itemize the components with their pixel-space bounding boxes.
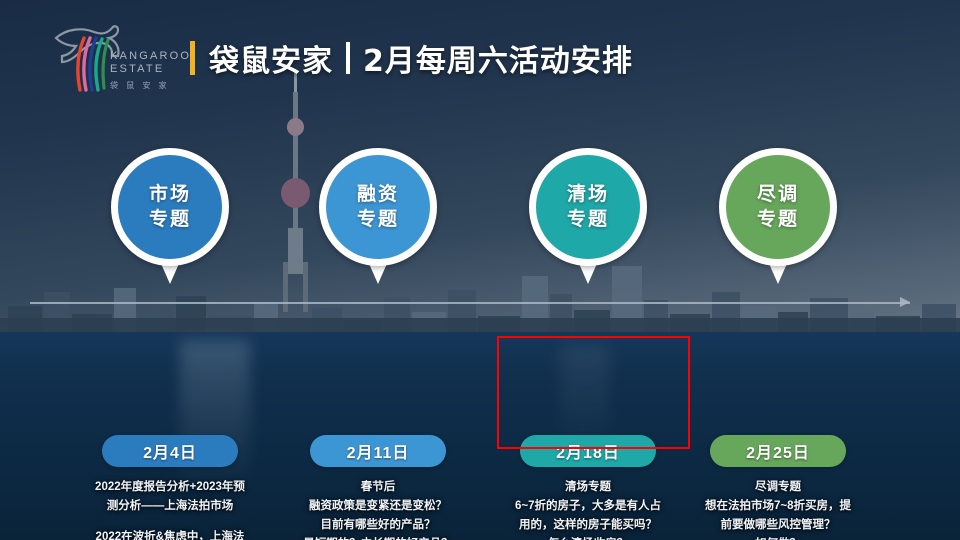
- timeline-node-3[interactable]: 清场 专题 2月18日 清场专题 6~7折的房子，大多是有人占 用的，这样的房子…: [488, 148, 688, 286]
- node-description: 春节后 融资政策是变紧还是变松？ 目前有哪些好的产品？ 是短期的？中长期的好产品…: [271, 478, 485, 540]
- pin-label-line1: 市场: [149, 182, 191, 207]
- desc-line: 前要做哪些风控管理？: [671, 516, 885, 535]
- desc-spacer: [63, 516, 277, 528]
- pin-label-line2: 专题: [357, 207, 399, 232]
- tv-tower-upper-sphere: [287, 118, 304, 136]
- date-pill[interactable]: 2月4日: [102, 435, 238, 467]
- desc-line: 用的，这样的房子能买吗？: [481, 516, 695, 535]
- date-pill[interactable]: 2月25日: [710, 435, 846, 467]
- pin-circle: 清场 专题: [529, 148, 647, 266]
- desc-line: 春节后: [271, 478, 485, 497]
- desc-line: 想在法拍市场7~8折买房，提: [671, 497, 885, 516]
- map-pin-icon[interactable]: 融资 专题: [319, 148, 437, 286]
- gold-accent-bar: [190, 41, 195, 75]
- desc-line: 目前有哪些好的产品？: [271, 516, 485, 535]
- desc-line: 尽调专题: [671, 478, 885, 497]
- desc-line: 2022在波折&焦虑中，上海法: [63, 528, 277, 540]
- desc-line: 融资政策是变紧还是变松？: [271, 497, 485, 516]
- logo-name-cn: 袋 鼠 安 家: [110, 80, 170, 91]
- date-pill[interactable]: 2月18日: [520, 435, 656, 467]
- pin-label-line2: 专题: [757, 207, 799, 232]
- logo-name-line2: ESTATE: [110, 63, 191, 76]
- brand-logo: KANGAROO ESTATE 袋 鼠 安 家: [52, 22, 172, 94]
- pin-circle: 融资 专题: [319, 148, 437, 266]
- node-description: 清场专题 6~7折的房子，大多是有人占 用的，这样的房子能买吗？ 怎么清场收房？: [481, 478, 695, 540]
- logo-wordmark: KANGAROO ESTATE: [110, 50, 191, 76]
- desc-line: 测分析——上海法拍市场: [63, 497, 277, 516]
- desc-line: 是短期的？中长期的好产品？: [271, 535, 485, 540]
- desc-line: 2022年度报告分析+2023年预: [63, 478, 277, 497]
- title-separator: [346, 42, 350, 74]
- map-pin-icon[interactable]: 市场 专题: [111, 148, 229, 286]
- timeline-node-2[interactable]: 融资 专题 2月11日 春节后 融资政策是变紧还是变松？ 目前有哪些好的产品？ …: [278, 148, 478, 286]
- pin-label-line1: 融资: [357, 182, 399, 207]
- logo-name-line1: KANGAROO: [110, 50, 191, 63]
- pin-circle: 市场 专题: [111, 148, 229, 266]
- date-pill[interactable]: 2月11日: [310, 435, 446, 467]
- pin-circle: 尽调 专题: [719, 148, 837, 266]
- slide-canvas: KANGAROO ESTATE 袋 鼠 安 家 袋鼠安家 2月每周六活动安排 市…: [0, 0, 960, 540]
- pin-label-line2: 专题: [149, 207, 191, 232]
- desc-line: 怎么清场收房？: [481, 535, 695, 540]
- desc-line: 清场专题: [481, 478, 695, 497]
- pin-label-line1: 清场: [567, 182, 609, 207]
- pin-label-line1: 尽调: [757, 182, 799, 207]
- map-pin-icon[interactable]: 尽调 专题: [719, 148, 837, 286]
- timeline-axis: [30, 302, 910, 304]
- title-text: 2月每周六活动安排: [363, 36, 633, 80]
- timeline-node-4[interactable]: 尽调 专题 2月25日 尽调专题 想在法拍市场7~8折买房，提 前要做哪些风控管…: [678, 148, 878, 286]
- brand-name: 袋鼠安家: [209, 36, 333, 80]
- timeline-arrowhead: [900, 297, 910, 307]
- node-description: 2022年度报告分析+2023年预 测分析——上海法拍市场 2022在波折&焦虑…: [63, 478, 277, 540]
- timeline-node-1[interactable]: 市场 专题 2月4日 2022年度报告分析+2023年预 测分析——上海法拍市场…: [70, 148, 270, 286]
- page-title: 袋鼠安家 2月每周六活动安排: [190, 36, 633, 80]
- node-description: 尽调专题 想在法拍市场7~8折买房，提 前要做哪些风控管理？ 如何做？: [671, 478, 885, 540]
- pin-label-line2: 专题: [567, 207, 609, 232]
- desc-line: 6~7折的房子，大多是有人占: [481, 497, 695, 516]
- desc-line: 如何做？: [671, 535, 885, 540]
- map-pin-icon[interactable]: 清场 专题: [529, 148, 647, 286]
- water-reflection: [180, 340, 250, 490]
